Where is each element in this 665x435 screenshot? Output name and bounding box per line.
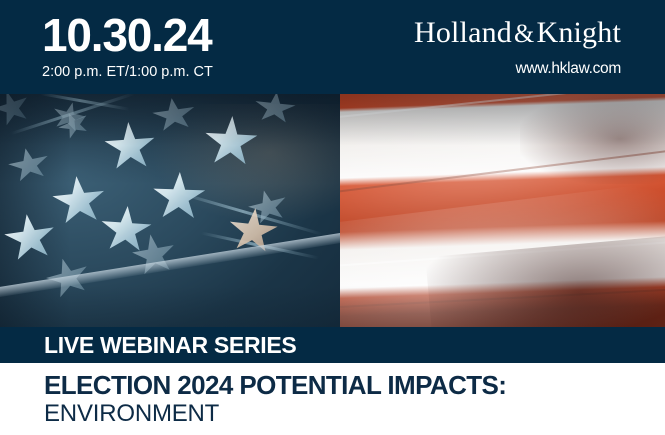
brand-logo-text: Holland&Knight [414,16,621,51]
header-bar: 10.30.24 2:00 p.m. ET/1:00 p.m. CT Holla… [0,0,665,94]
brand-first-word: Holland [414,16,512,49]
live-webinar-series-band: LIVE WEBINAR SERIES [0,327,665,363]
ampersand-glyph: & [512,19,536,48]
date-time-block: 10.30.24 2:00 p.m. ET/1:00 p.m. CT [42,11,213,81]
webinar-subtitle: ENVIRONMENT [44,400,219,428]
webinar-date: 10.30.24 [42,11,213,59]
stripe-shadow [520,94,665,184]
brand-second-word: Knight [536,16,621,49]
series-label: LIVE WEBINAR SERIES [44,332,296,359]
website-url[interactable]: www.hklaw.com [414,59,621,79]
webinar-promo-card: 10.30.24 2:00 p.m. ET/1:00 p.m. CT Holla… [0,0,665,435]
webinar-time: 2:00 p.m. ET/1:00 p.m. CT [42,63,213,81]
brand-block: Holland&Knight www.hklaw.com [414,16,621,79]
webinar-title: ELECTION 2024 POTENTIAL IMPACTS: [44,370,506,400]
flag-union-region [0,94,340,328]
title-block: ELECTION 2024 POTENTIAL IMPACTS: ENVIRON… [0,363,665,435]
american-flag-photo [0,94,665,328]
